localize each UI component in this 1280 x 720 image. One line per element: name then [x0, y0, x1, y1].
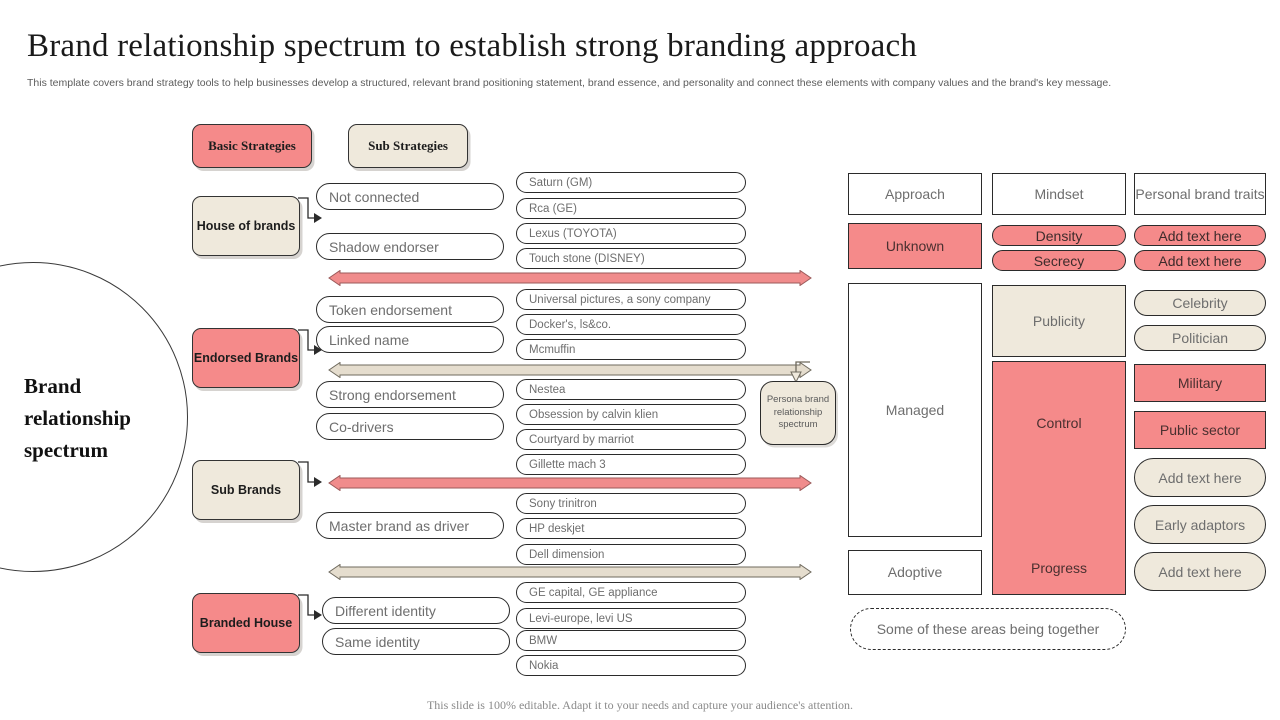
header-card-sub-strategies[interactable]: Sub Strategies — [348, 124, 468, 168]
mindset-progress-label: Progress — [1031, 560, 1087, 594]
trait-add-text-4[interactable]: Add text here — [1134, 552, 1266, 591]
right-panel-bottom-note[interactable]: Some of these areas being together — [850, 608, 1126, 650]
brand-example-label: HP deskjet — [529, 523, 584, 535]
header-card-basic-strategies-label: Basic Strategies — [208, 138, 296, 154]
separator-arrow-4 — [328, 564, 812, 580]
right-panel-header-approach: Approach — [848, 173, 982, 215]
brand-example-sony-trinitron[interactable]: Sony trinitron — [516, 493, 746, 514]
brand-example-label: GE capital, GE appliance — [529, 587, 658, 599]
sub-strategy-linked-name-label: Linked name — [329, 332, 409, 348]
basic-strategy-house-of-brands-label: House of brands — [197, 218, 296, 234]
mindset-secrecy[interactable]: Secrecy — [992, 250, 1126, 271]
persona-callout[interactable]: Persona brand relationship spectrum — [760, 381, 836, 445]
brand-example-label: Obsession by calvin klien — [529, 409, 658, 421]
brand-example-dell-dimension[interactable]: Dell dimension — [516, 544, 746, 565]
trait-label: Add text here — [1158, 228, 1241, 244]
sub-strategy-same-identity-label: Same identity — [335, 634, 420, 650]
sub-strategy-master-brand-as-driver-label: Master brand as driver — [329, 518, 469, 534]
brand-example-label: Universal pictures, a sony company — [529, 294, 711, 306]
sub-strategy-not-connected-label: Not connected — [329, 189, 419, 205]
right-panel-header-mindset: Mindset — [992, 173, 1126, 215]
basic-strategy-branded-house-label: Branded House — [200, 615, 292, 631]
connector-branded-house — [296, 593, 322, 633]
slide-canvas: Brand relationship spectrum to establish… — [0, 0, 1280, 720]
sub-strategy-different-identity-label: Different identity — [335, 603, 436, 619]
brand-example-label: Mcmuffin — [529, 344, 575, 356]
basic-strategy-endorsed-brands[interactable]: Endorsed Brands — [192, 328, 300, 388]
brand-example-ge-capital[interactable]: GE capital, GE appliance — [516, 582, 746, 603]
trait-label: Politician — [1172, 330, 1228, 346]
brand-example-label: Lexus (TOYOTA) — [529, 228, 617, 240]
separator-arrow-3 — [328, 475, 812, 491]
trait-label: Public sector — [1160, 422, 1240, 439]
sub-strategy-shadow-endorser-label: Shadow endorser — [329, 239, 439, 255]
sub-strategy-token-endorsement[interactable]: Token endorsement — [316, 296, 504, 323]
brand-example-saturn[interactable]: Saturn (GM) — [516, 172, 746, 193]
approach-unknown-label: Unknown — [886, 238, 944, 255]
mindset-secrecy-label: Secrecy — [1034, 253, 1085, 269]
right-panel-header-label: Personal brand traits — [1135, 186, 1264, 203]
trait-celebrity[interactable]: Celebrity — [1134, 290, 1266, 316]
right-panel-header-label: Approach — [885, 186, 945, 203]
slide-footer-note: This slide is 100% editable. Adapt it to… — [0, 698, 1280, 713]
mindset-density-label: Density — [1036, 228, 1083, 244]
trait-add-text-2[interactable]: Add text here — [1134, 250, 1266, 271]
brand-example-dockers[interactable]: Docker's, ls&co. — [516, 314, 746, 335]
brand-example-nokia[interactable]: Nokia — [516, 655, 746, 676]
brand-example-label: BMW — [529, 635, 557, 647]
brand-example-touch-stone[interactable]: Touch stone (DISNEY) — [516, 248, 746, 269]
page-subtitle: This template covers brand strategy tool… — [27, 76, 1197, 90]
mindset-control-progress[interactable]: Control Progress — [992, 361, 1126, 595]
brand-example-label: Rca (GE) — [529, 203, 577, 215]
basic-strategy-sub-brands[interactable]: Sub Brands — [192, 460, 300, 520]
approach-unknown[interactable]: Unknown — [848, 223, 982, 269]
sub-strategy-different-identity[interactable]: Different identity — [322, 597, 510, 624]
brand-example-lexus[interactable]: Lexus (TOYOTA) — [516, 223, 746, 244]
approach-managed[interactable]: Managed — [848, 283, 982, 537]
sub-strategy-same-identity[interactable]: Same identity — [322, 628, 510, 655]
connector-sub-brands — [296, 460, 322, 500]
mindset-density[interactable]: Density — [992, 225, 1126, 246]
trait-label: Add text here — [1158, 253, 1241, 269]
trait-label: Add text here — [1158, 470, 1241, 486]
brand-example-courtyard[interactable]: Courtyard by marriot — [516, 429, 746, 450]
mindset-publicity-label: Publicity — [1033, 313, 1085, 330]
brand-example-levi[interactable]: Levi-europe, levi US — [516, 608, 746, 629]
header-card-sub-strategies-label: Sub Strategies — [368, 138, 448, 154]
brand-example-mcmuffin[interactable]: Mcmuffin — [516, 339, 746, 360]
header-card-basic-strategies[interactable]: Basic Strategies — [192, 124, 312, 168]
brand-example-label: Docker's, ls&co. — [529, 319, 611, 331]
sub-strategy-shadow-endorser[interactable]: Shadow endorser — [316, 233, 504, 260]
brand-example-label: Saturn (GM) — [529, 177, 592, 189]
brand-example-universal-pictures[interactable]: Universal pictures, a sony company — [516, 289, 746, 310]
brand-example-bmw[interactable]: BMW — [516, 630, 746, 651]
trait-add-text-3[interactable]: Add text here — [1134, 458, 1266, 497]
sub-strategy-linked-name[interactable]: Linked name — [316, 326, 504, 353]
mindset-control-label: Control — [1036, 362, 1081, 431]
right-panel-bottom-note-label: Some of these areas being together — [877, 620, 1100, 639]
sub-strategy-token-endorsement-label: Token endorsement — [329, 302, 452, 318]
sub-strategy-co-drivers-label: Co-drivers — [329, 419, 394, 435]
trait-label: Add text here — [1158, 564, 1241, 580]
trait-military[interactable]: Military — [1134, 364, 1266, 402]
basic-strategy-branded-house[interactable]: Branded House — [192, 593, 300, 653]
brand-example-label: Touch stone (DISNEY) — [529, 253, 645, 265]
brand-example-label: Gillette mach 3 — [529, 459, 606, 471]
brand-spectrum-circle-label: Brand relationship spectrum — [24, 370, 189, 466]
trait-label: Early adaptors — [1155, 517, 1245, 533]
sub-strategy-not-connected[interactable]: Not connected — [316, 183, 504, 210]
basic-strategy-sub-brands-label: Sub Brands — [211, 482, 281, 498]
basic-strategy-endorsed-brands-label: Endorsed Brands — [194, 350, 298, 366]
approach-managed-label: Managed — [886, 402, 944, 418]
brand-example-label: Nokia — [529, 660, 558, 672]
right-panel-header-label: Mindset — [1034, 186, 1083, 203]
right-panel-header-personal-brand-traits: Personal brand traits — [1134, 173, 1266, 215]
trait-early-adaptors[interactable]: Early adaptors — [1134, 505, 1266, 544]
brand-example-hp-deskjet[interactable]: HP deskjet — [516, 518, 746, 539]
brand-example-label: Dell dimension — [529, 549, 604, 561]
approach-adoptive-label: Adoptive — [888, 564, 942, 581]
brand-example-label: Sony trinitron — [529, 498, 597, 510]
brand-example-nestea[interactable]: Nestea — [516, 379, 746, 400]
approach-adoptive[interactable]: Adoptive — [848, 550, 982, 595]
brand-example-label: Courtyard by marriot — [529, 434, 634, 446]
sub-strategy-strong-endorsement-label: Strong endorsement — [329, 387, 456, 403]
brand-example-label: Nestea — [529, 384, 565, 396]
trait-label: Military — [1178, 375, 1222, 392]
basic-strategy-house-of-brands[interactable]: House of brands — [192, 196, 300, 256]
mindset-publicity[interactable]: Publicity — [992, 285, 1126, 357]
persona-callout-label: Persona brand relationship spectrum — [761, 394, 835, 432]
separator-arrow-1 — [328, 270, 812, 286]
page-title: Brand relationship spectrum to establish… — [27, 26, 1247, 66]
brand-example-obsession[interactable]: Obsession by calvin klien — [516, 404, 746, 425]
sub-strategy-co-drivers[interactable]: Co-drivers — [316, 413, 504, 440]
trait-label: Celebrity — [1172, 295, 1227, 311]
trait-public-sector[interactable]: Public sector — [1134, 411, 1266, 449]
trait-add-text-1[interactable]: Add text here — [1134, 225, 1266, 246]
brand-example-label: Levi-europe, levi US — [529, 613, 633, 625]
brand-example-rca[interactable]: Rca (GE) — [516, 198, 746, 219]
sub-strategy-strong-endorsement[interactable]: Strong endorsement — [316, 381, 504, 408]
sub-strategy-master-brand-as-driver[interactable]: Master brand as driver — [316, 512, 504, 539]
separator-arrow-2 — [328, 362, 812, 378]
trait-politician[interactable]: Politician — [1134, 325, 1266, 351]
brand-example-gillette[interactable]: Gillette mach 3 — [516, 454, 746, 475]
